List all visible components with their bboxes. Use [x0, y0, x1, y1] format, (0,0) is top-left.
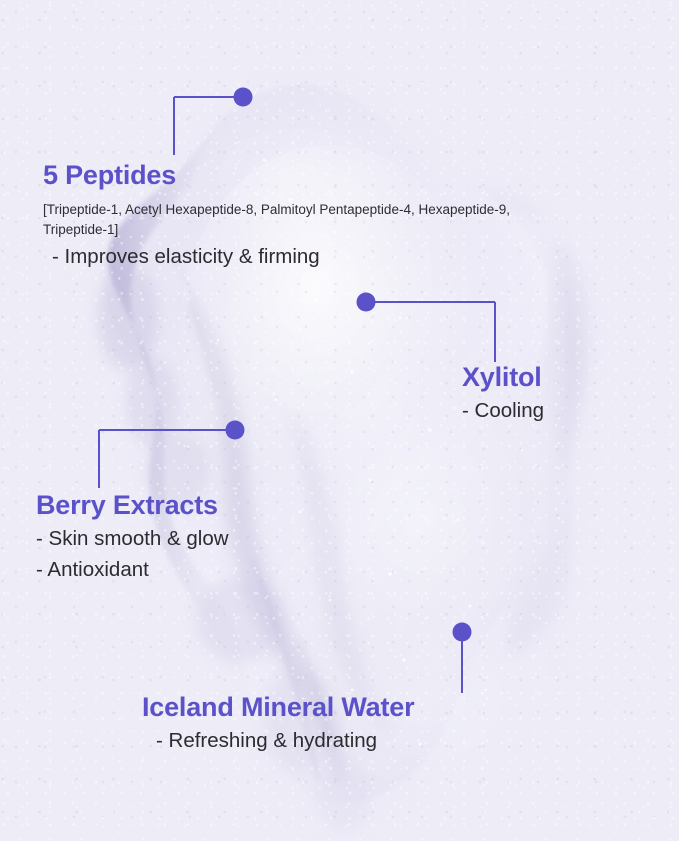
ingredient-infographic: 5 Peptides [Tripeptide-1, Acetyl Hexapep…	[0, 0, 679, 841]
callout-benefits-berry-extracts: - Skin smooth & glow - Antioxidant	[36, 524, 356, 586]
callout-dot-iceland[interactable]	[453, 623, 472, 642]
benefit-item: - Skin smooth & glow	[36, 524, 356, 555]
benefit-item: - Cooling	[462, 396, 672, 427]
callout-peptides: 5 Peptides [Tripeptide-1, Acetyl Hexapep…	[43, 160, 563, 273]
callout-ingredients-peptides: [Tripeptide-1, Acetyl Hexapeptide-8, Pal…	[43, 200, 523, 239]
callout-xylitol: Xylitol - Cooling	[462, 362, 672, 427]
callout-title-iceland-mineral-water: Iceland Mineral Water	[142, 692, 542, 723]
callout-benefits-iceland-mineral-water: - Refreshing & hydrating	[142, 726, 542, 757]
benefit-item: - Antioxidant	[36, 555, 356, 586]
callout-title-xylitol: Xylitol	[462, 362, 672, 393]
callout-benefits-xylitol: - Cooling	[462, 396, 672, 427]
callout-dot-berry[interactable]	[226, 421, 245, 440]
callout-iceland-mineral-water: Iceland Mineral Water - Refreshing & hyd…	[142, 692, 542, 757]
benefit-item: - Refreshing & hydrating	[142, 726, 542, 757]
leader-peptides	[90, 82, 280, 172]
callout-berry-extracts: Berry Extracts - Skin smooth & glow - An…	[36, 490, 356, 586]
callout-title-berry-extracts: Berry Extracts	[36, 490, 356, 521]
callout-benefits-peptides: - Improves elasticity & firming	[43, 242, 563, 273]
callout-dot-peptides[interactable]	[234, 88, 253, 107]
callout-dot-xylitol[interactable]	[357, 293, 376, 312]
benefit-item: - Improves elasticity & firming	[43, 242, 563, 273]
callout-title-peptides: 5 Peptides	[43, 160, 563, 191]
